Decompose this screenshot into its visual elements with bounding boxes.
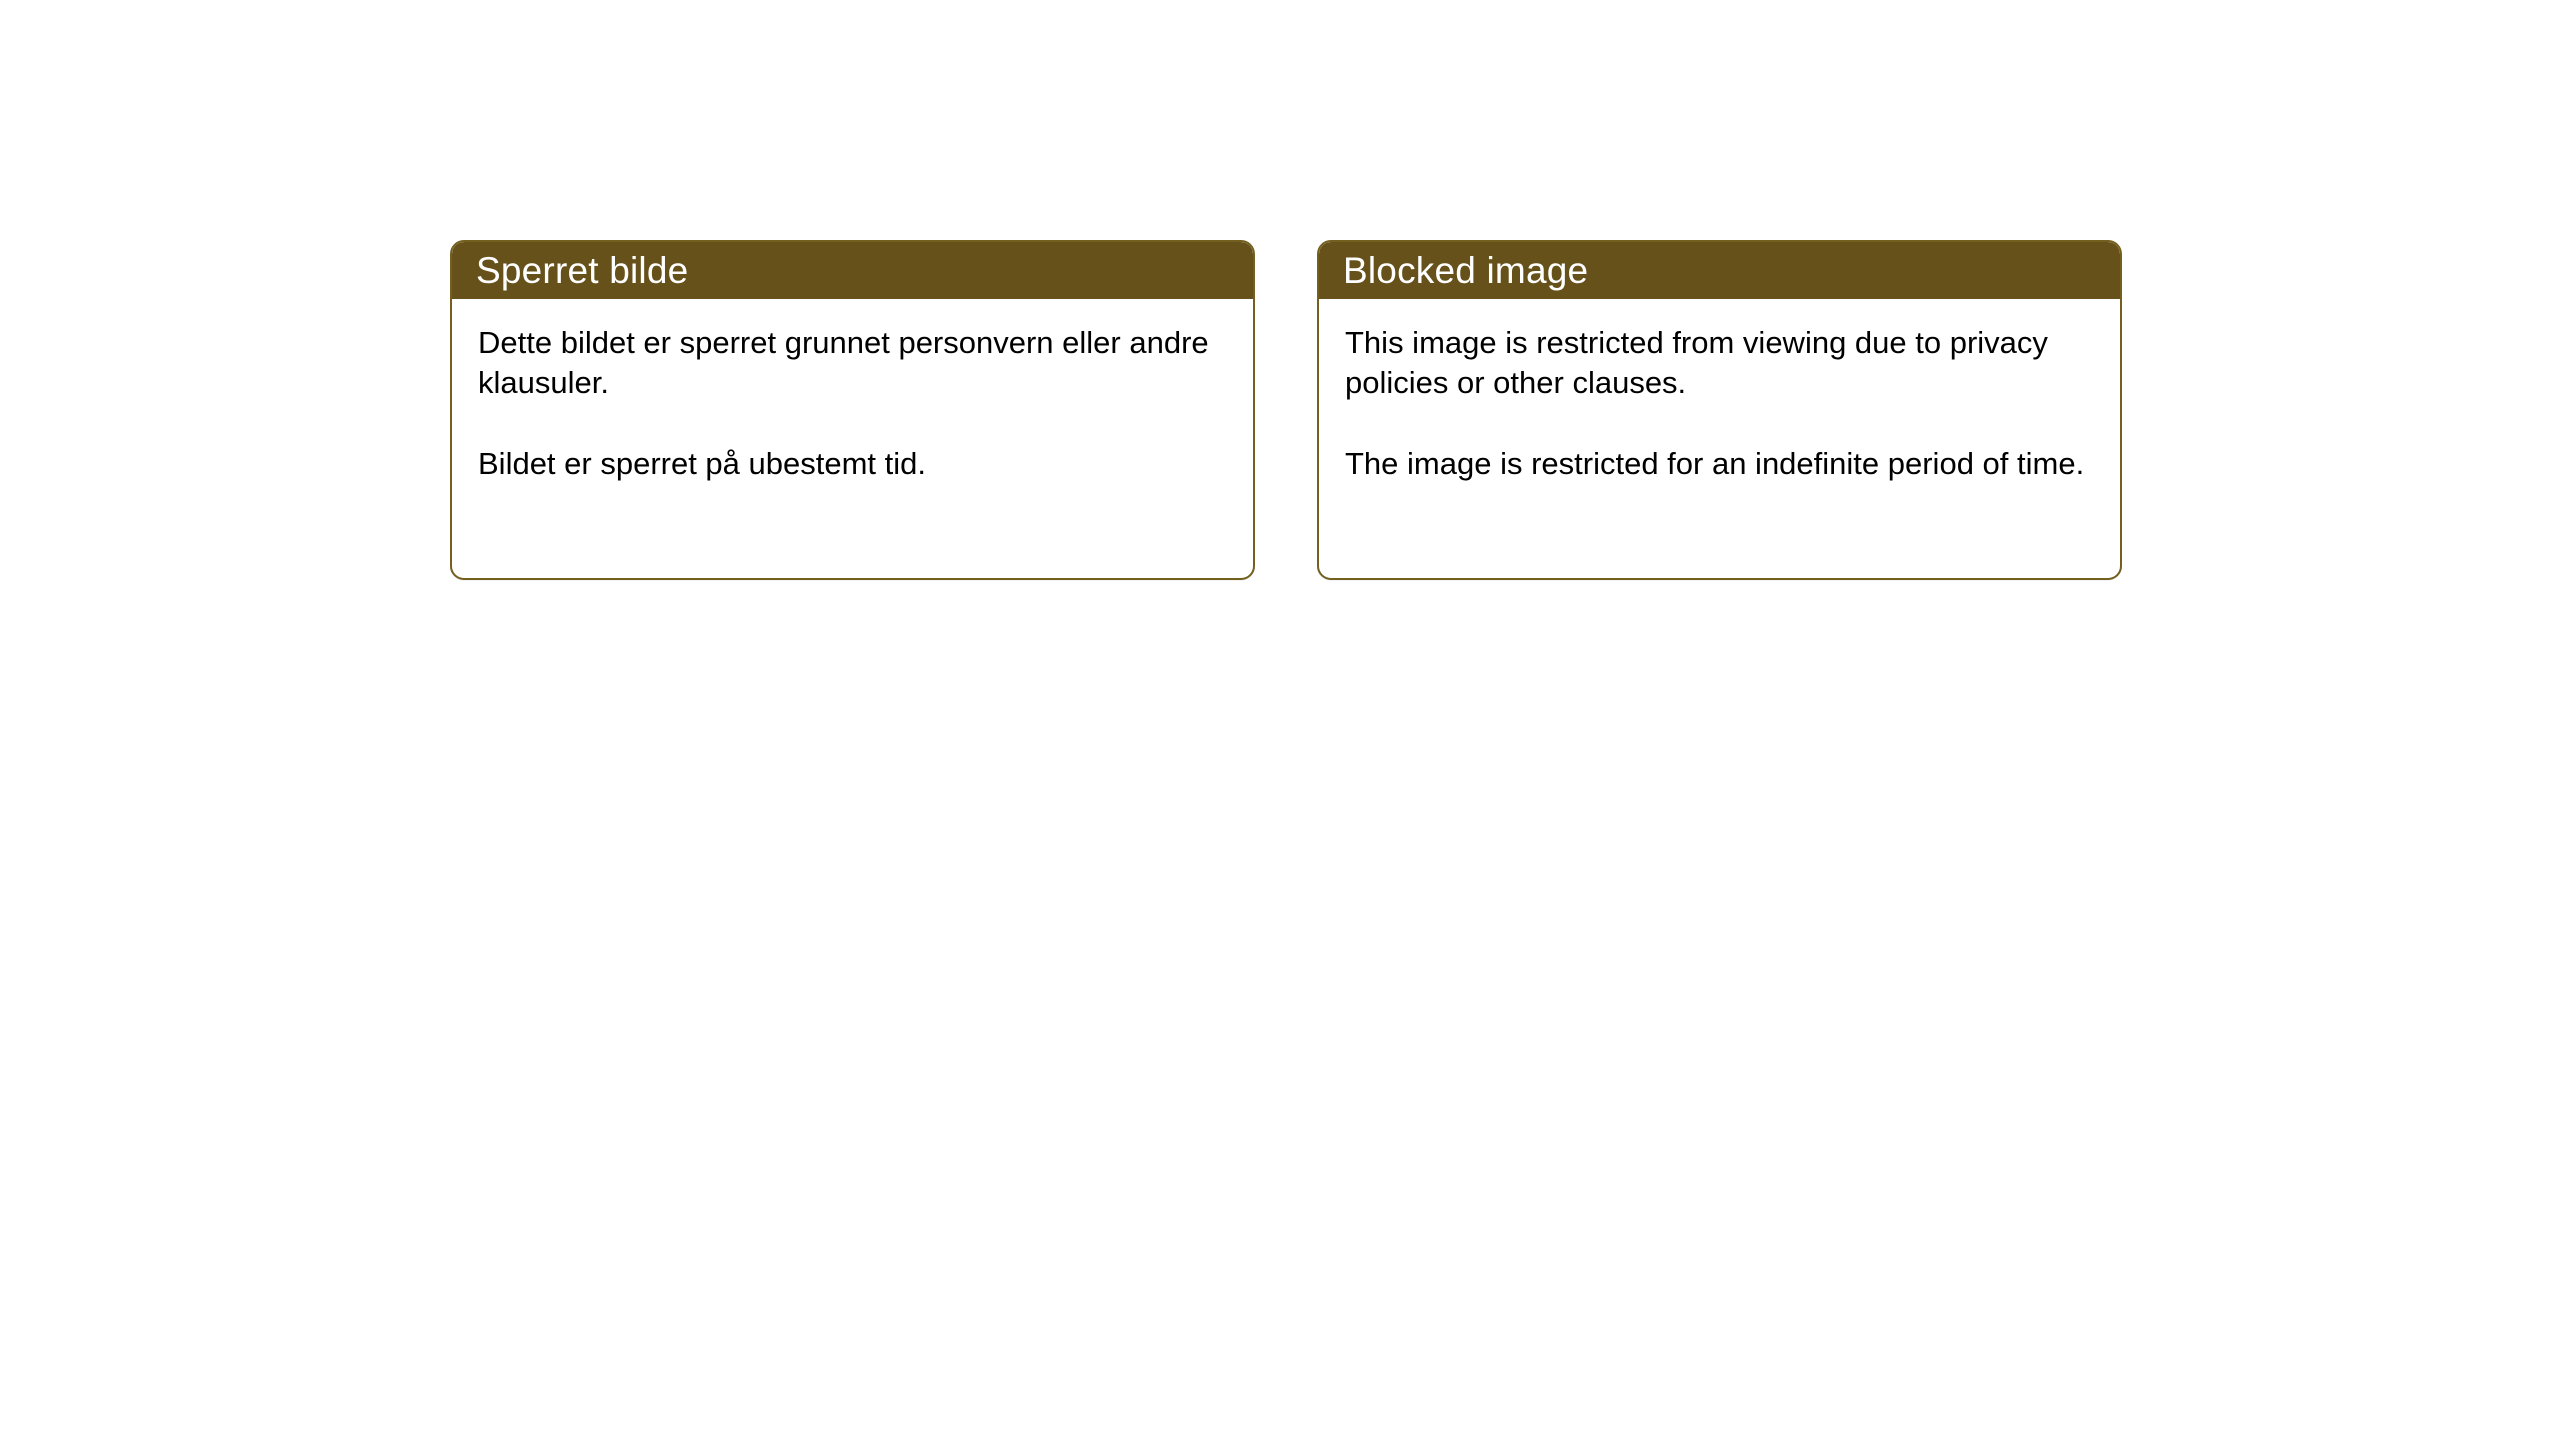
- notice-card-english: Blocked image This image is restricted f…: [1317, 240, 2122, 580]
- page-root: Sperret bilde Dette bildet er sperret gr…: [0, 0, 2560, 1440]
- card-paragraph-duration-norwegian: Bildet er sperret på ubestemt tid.: [478, 444, 1227, 484]
- card-paragraph-duration-english: The image is restricted for an indefinit…: [1345, 444, 2094, 484]
- card-title-english: Blocked image: [1343, 252, 1588, 289]
- card-body-english: This image is restricted from viewing du…: [1319, 299, 2120, 484]
- card-header-english: Blocked image: [1319, 242, 2120, 299]
- card-paragraph-privacy-english: This image is restricted from viewing du…: [1345, 323, 2094, 402]
- notice-card-row: Sperret bilde Dette bildet er sperret gr…: [450, 240, 2122, 580]
- card-paragraph-privacy-norwegian: Dette bildet er sperret grunnet personve…: [478, 323, 1227, 402]
- notice-card-norwegian: Sperret bilde Dette bildet er sperret gr…: [450, 240, 1255, 580]
- card-title-norwegian: Sperret bilde: [476, 252, 688, 289]
- card-body-norwegian: Dette bildet er sperret grunnet personve…: [452, 299, 1253, 484]
- card-header-norwegian: Sperret bilde: [452, 242, 1253, 299]
